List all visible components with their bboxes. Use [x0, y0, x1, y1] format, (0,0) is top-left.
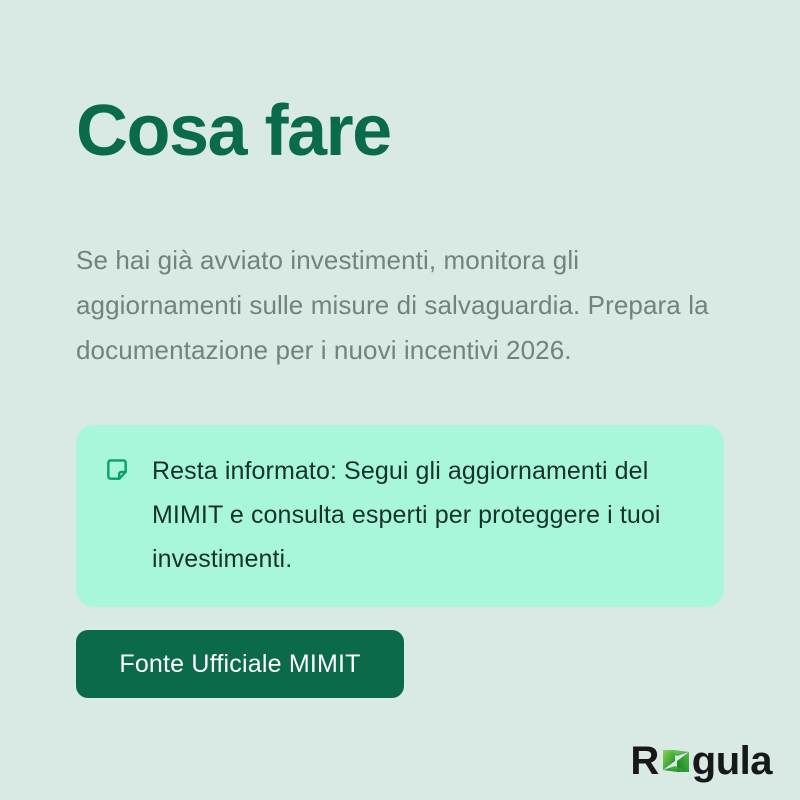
slide-card: Cosa fare Se hai già avviato investiment… — [0, 0, 800, 800]
body-paragraph: Se hai già avviato investimenti, monitor… — [76, 238, 724, 373]
callout-box: Resta informato: Segui gli aggiornamenti… — [76, 425, 724, 607]
sticky-note-icon — [104, 457, 130, 483]
brand-name-suffix: gula — [692, 741, 772, 781]
brand-name-prefix: R — [630, 741, 658, 781]
callout-text: Resta informato: Segui gli aggiornamenti… — [152, 449, 698, 581]
fonte-ufficiale-mimit-button[interactable]: Fonte Ufficiale MIMIT — [76, 630, 404, 698]
regula-logo: R gula — [630, 740, 772, 782]
page-title: Cosa fare — [76, 88, 391, 174]
regula-mark-icon — [661, 744, 691, 778]
